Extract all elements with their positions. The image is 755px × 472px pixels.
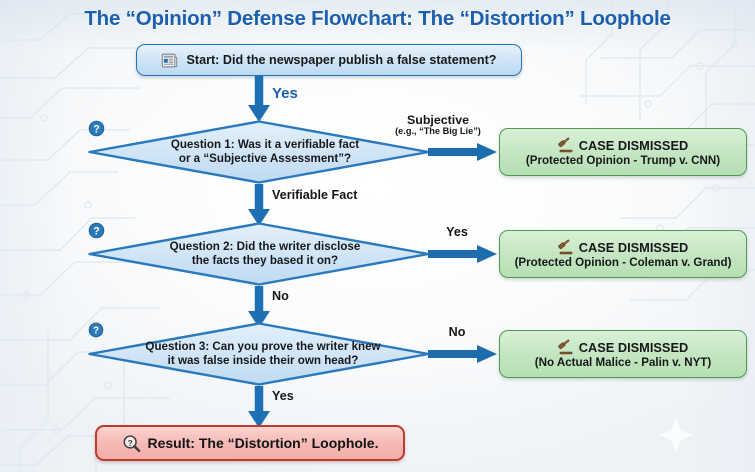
- gavel-icon: [558, 339, 574, 355]
- decision-q1-line1: Question 1: Was it a verifiable fact: [171, 138, 359, 151]
- start-node[interactable]: Start: Did the newspaper publish a false…: [136, 44, 522, 76]
- gavel-icon: [558, 137, 574, 153]
- arrow-start-to-q1: [245, 76, 273, 124]
- decision-q3-line1: Question 3: Can you prove the writer kne…: [145, 340, 380, 353]
- decision-q2-label: Question 2: Did the writer disclose the …: [170, 240, 361, 269]
- arrow-q3-to-outcome3: [428, 342, 498, 366]
- decision-q3-line2: it was false inside their own head?: [168, 354, 359, 367]
- outcome-node-1[interactable]: CASE DISMISSED (Protected Opinion - Trum…: [499, 128, 747, 176]
- outcome-node-2-headline: CASE DISMISSED: [558, 239, 689, 255]
- outcome-node-1-headline: CASE DISMISSED: [558, 137, 689, 153]
- decision-q3-label: Question 3: Can you prove the writer kne…: [145, 340, 380, 369]
- outcome-node-2-line1: CASE DISMISSED: [579, 240, 689, 255]
- edge-label-q1-verifiable-fact: Verifiable Fact: [272, 188, 357, 202]
- decision-q2[interactable]: ? Question 2: Did the writer disclose th…: [88, 222, 430, 286]
- outcome-node-3-line2: (No Actual Malice - Palin v. NYT): [535, 356, 712, 369]
- svg-text:?: ?: [93, 326, 99, 337]
- result-node-label: Result: The “Distortion” Loophole.: [148, 435, 379, 451]
- outcome-node-3-line1: CASE DISMISSED: [579, 340, 689, 355]
- flowchart-canvas: The “Opinion” Defense Flowchart: The “Di…: [0, 0, 755, 472]
- arrow-q2-to-outcome2: [428, 242, 498, 266]
- outcome-node-3[interactable]: CASE DISMISSED (No Actual Malice - Palin…: [499, 330, 747, 378]
- svg-text:?: ?: [127, 437, 132, 447]
- decision-q1-label: Question 1: Was it a verifiable fact or …: [171, 138, 359, 167]
- edge-label-q3-yes: Yes: [272, 389, 294, 403]
- edge-label-q1-subjective: Subjective (e.g., “The Big Lie”): [386, 113, 490, 136]
- decision-q3[interactable]: ? Question 3: Can you prove the writer k…: [88, 322, 430, 386]
- magnifier-question-icon: ?: [122, 434, 141, 453]
- decision-q2-line2: the facts they based it on?: [192, 254, 338, 267]
- outcome-node-2-line2: (Protected Opinion - Coleman v. Grand): [515, 256, 732, 269]
- edge-label-q2-yes: Yes: [426, 225, 488, 239]
- outcome-node-3-headline: CASE DISMISSED: [558, 339, 689, 355]
- arrow-q3-to-result: [245, 386, 273, 430]
- outcome-node-2[interactable]: CASE DISMISSED (Protected Opinion - Cole…: [499, 230, 747, 278]
- edge-label-q2-no: No: [272, 289, 289, 303]
- edge-label-q1-subjective-sub: (e.g., “The Big Lie”): [386, 126, 490, 136]
- outcome-node-1-line2: (Protected Opinion - Trump v. CNN): [526, 154, 720, 167]
- edge-label-q3-no: No: [426, 325, 488, 339]
- page-title: The “Opinion” Defense Flowchart: The “Di…: [0, 7, 755, 31]
- start-node-label: Start: Did the newspaper publish a false…: [186, 53, 496, 67]
- edge-label-q1-subjective-main: Subjective: [407, 113, 469, 127]
- newspaper-icon: [161, 52, 178, 69]
- result-node[interactable]: ? Result: The “Distortion” Loophole.: [95, 425, 405, 461]
- decision-q1-line2: or a “Subjective Assessment”?: [179, 152, 351, 165]
- outcome-node-1-line1: CASE DISMISSED: [579, 138, 689, 153]
- edge-label-start-yes: Yes: [272, 85, 298, 102]
- decision-q2-line1: Question 2: Did the writer disclose: [170, 240, 361, 253]
- svg-text:?: ?: [93, 225, 99, 237]
- gavel-icon: [558, 239, 574, 255]
- decision-q1[interactable]: ? Question 1: Was it a verifiable fact o…: [88, 120, 430, 184]
- arrow-q1-to-outcome1: [428, 140, 498, 164]
- svg-text:?: ?: [93, 123, 99, 135]
